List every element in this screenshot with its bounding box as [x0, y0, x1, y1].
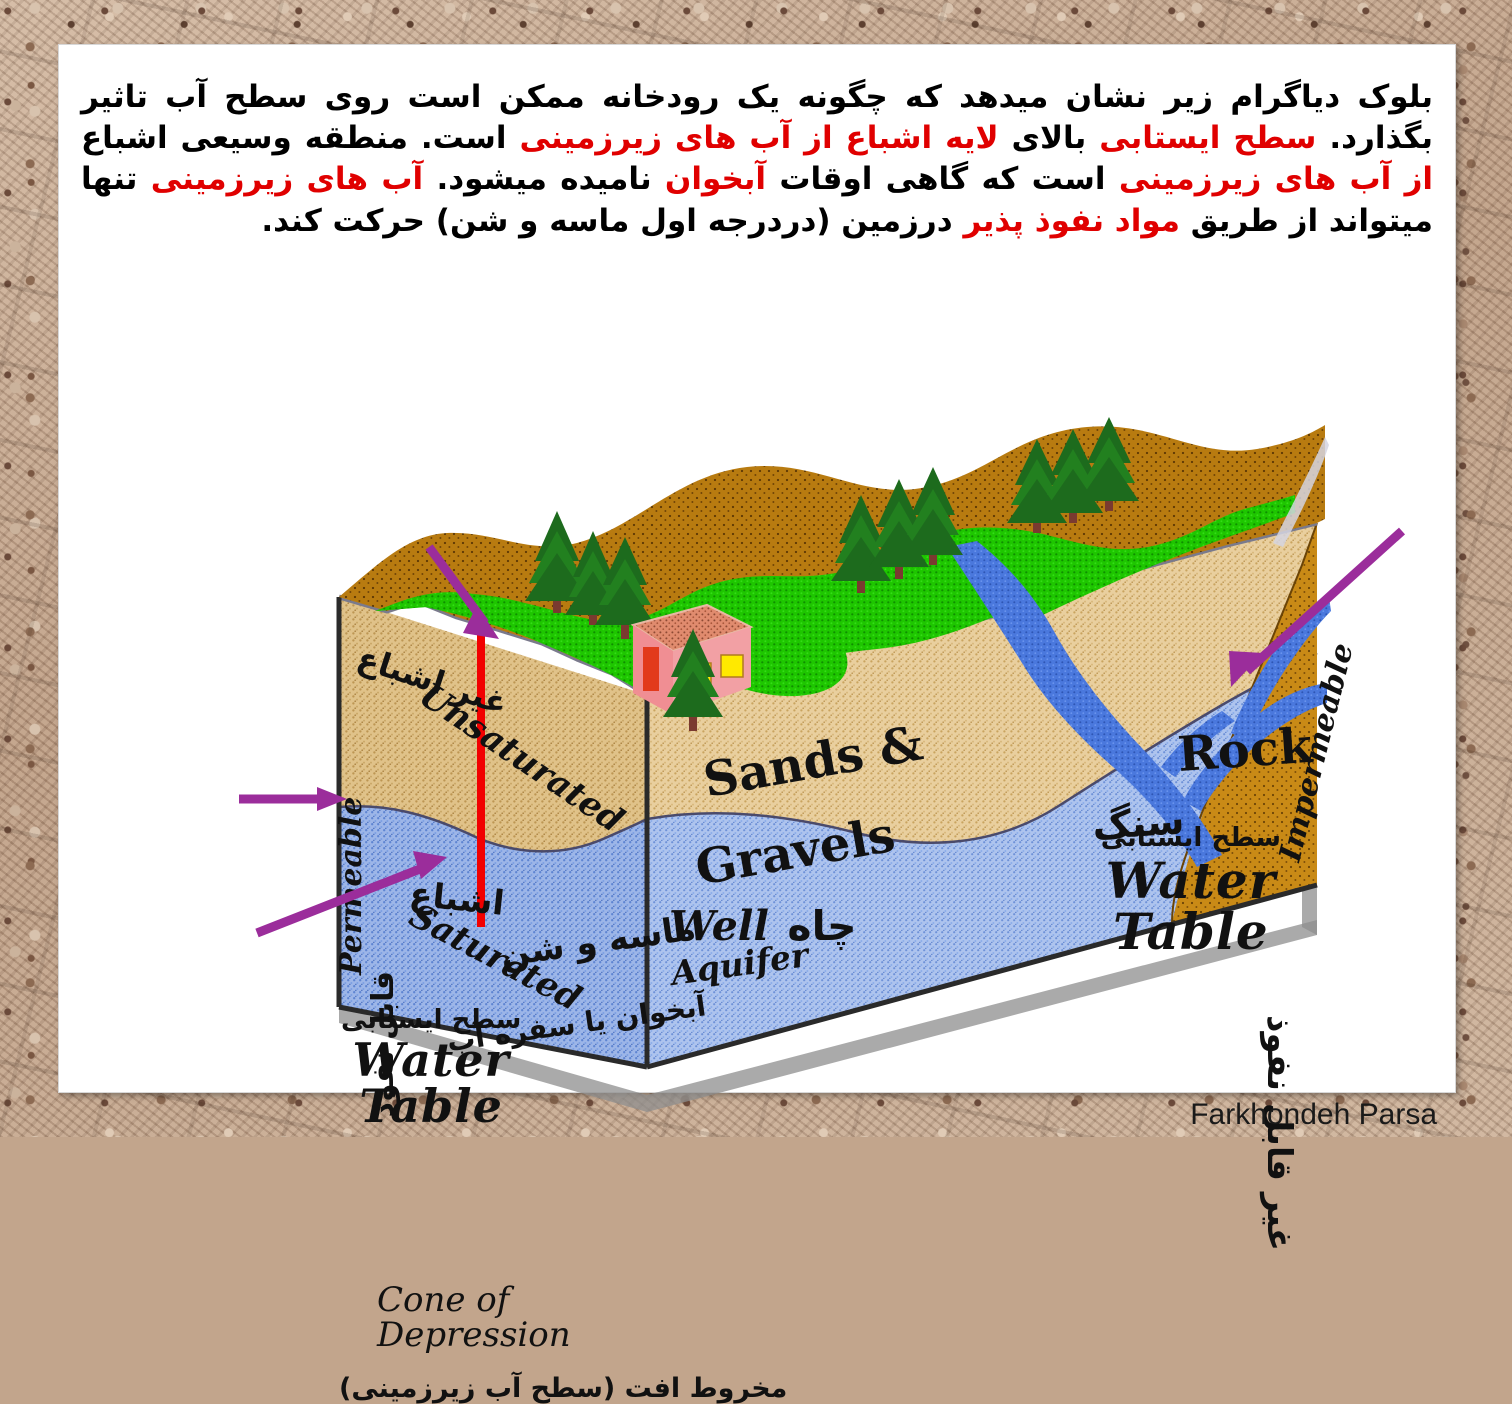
headline-line1-b: بالای	[1012, 120, 1087, 156]
well-label-en: Well	[669, 902, 769, 950]
water-table-left-label-en-1: Water	[341, 1037, 521, 1083]
headline-line3-highlight2: مواد نفوذ پذیر	[963, 203, 1180, 239]
author-credit: Farkhondeh Parsa	[1190, 1098, 1437, 1132]
water-table-right-label-en-1: Water	[1101, 855, 1281, 906]
headline-line1-highlight: سطح ایستابی	[1099, 120, 1316, 156]
headline-line2-highlight2: آبخوان	[665, 161, 766, 197]
water-table-arrow-left	[239, 787, 347, 811]
headline-line2-b: است که گاهی اوقات	[779, 161, 1105, 197]
well-label: Well چاه	[669, 902, 857, 950]
headline-line2-a: منطقه وسیعی اشباع	[81, 120, 408, 156]
water-table-left-label: سطح ایستابی Water Table	[341, 1005, 521, 1129]
well-label-fa: چاه	[787, 902, 856, 950]
slide-background: بلوک دیاگرام زیر نشان میدهد که چگونه یک …	[0, 0, 1512, 1137]
headline-line3-b: درزمین (دردرجه اول ماسه و شن) حرکت کند.	[261, 203, 952, 239]
water-table-right-label-en-2: Table	[1101, 906, 1281, 957]
water-table-left-label-fa: سطح ایستابی	[341, 1005, 521, 1035]
water-table-left-label-en-2: Table	[341, 1083, 521, 1129]
impermeable-right-label-wrap: غیر قابل نفوذ	[1259, 1015, 1299, 1251]
headline-line2-highlight: از آب های زیرزمینی	[1119, 161, 1433, 197]
water-table-right-label-fa: سطح ایستابی	[1101, 823, 1281, 853]
headline-line3-highlight: آب های زیرزمینی	[151, 161, 423, 197]
page-title: بلوک دیاگرام زیر نشان میدهد که چگونه یک …	[81, 77, 1433, 242]
cone-of-depression-label-line1: Cone of	[377, 1283, 571, 1318]
headline-line1-c: است.	[421, 120, 507, 156]
groundwater-block-diagram: Permeable قابل نفوذ Unsaturated غیر اشبا…	[317, 415, 1327, 1095]
headline-line1-highlight2: لایه اشباع از آب های زیرزمینی	[520, 120, 999, 156]
cone-of-depression-label-fa-wrap: مخروط افت (سطح آب زیرزمینی)	[339, 1373, 787, 1404]
water-table-right-label: سطح ایستابی Water Table	[1101, 823, 1281, 957]
cone-of-depression-label-fa: مخروط افت (سطح آب زیرزمینی)	[339, 1373, 787, 1404]
block-diagram-svg: Permeable قابل نفوذ Unsaturated غیر اشبا…	[317, 415, 1327, 1095]
slide-page: بلوک دیاگرام زیر نشان میدهد که چگونه یک …	[58, 44, 1456, 1093]
cone-of-depression-label: Cone of Depression	[377, 1283, 571, 1352]
impermeable-right-label-fa: غیر قابل نفوذ	[1259, 1015, 1299, 1251]
cone-of-depression-label-line2: Depression	[377, 1318, 571, 1353]
headline-line2-c: نامیده میشود.	[436, 161, 651, 197]
